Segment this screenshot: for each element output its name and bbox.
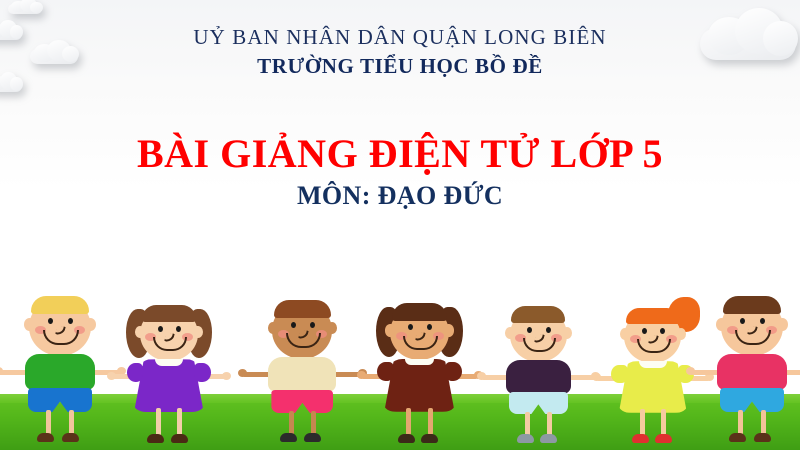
shoe-right <box>754 433 771 442</box>
leg-left <box>406 408 411 436</box>
child-4-girl-maroon <box>370 300 469 444</box>
eye-left <box>642 328 647 334</box>
header-line-school: TRƯỜNG TIỂU HỌC BỒ ĐỀ <box>0 53 800 79</box>
shoe-left <box>398 434 415 443</box>
shoe-right <box>304 433 321 442</box>
leg-left <box>525 412 530 435</box>
child-7-boy-pink <box>700 292 800 444</box>
shirt <box>268 357 336 392</box>
shirt <box>717 354 787 390</box>
sleeve-right <box>194 363 211 382</box>
page-subtitle: MÔN: ĐẠO ĐỨC <box>0 181 800 211</box>
shorts <box>271 390 333 413</box>
shoe-right <box>540 434 557 443</box>
eye-left <box>158 326 163 332</box>
leg-right <box>311 411 316 435</box>
child-6-girl-yellow <box>605 304 701 444</box>
dress-collar <box>155 359 183 366</box>
hand-left <box>686 367 695 375</box>
eye-right <box>68 318 73 324</box>
shoe-right <box>171 434 188 443</box>
hair-top <box>142 305 197 322</box>
shoe-left <box>729 433 746 442</box>
child-2-girl-purple <box>120 301 218 444</box>
shorts <box>28 388 92 412</box>
hand-right <box>222 372 231 380</box>
leg-right <box>428 408 433 436</box>
sleeve-left <box>611 365 628 383</box>
eye-left <box>740 318 745 324</box>
leg-left <box>738 410 743 435</box>
shoe-left <box>632 434 649 443</box>
eye-right <box>310 322 315 328</box>
leg-left <box>289 411 294 435</box>
header-line-organization: UỶ BAN NHÂN DÂN QUẬN LONG BIÊN <box>0 24 800 50</box>
eye-right <box>760 318 765 324</box>
eye-left <box>48 318 53 324</box>
shoe-right <box>421 434 438 443</box>
hair-top <box>274 300 330 317</box>
hand-left <box>107 372 116 380</box>
shoe-right <box>655 434 672 443</box>
leg-left <box>156 408 161 435</box>
eye-left <box>291 322 296 328</box>
leg-right <box>761 410 766 435</box>
page-title: BÀI GIẢNG ĐIỆN TỬ LỚP 5 <box>0 131 800 177</box>
dress-collar <box>405 359 434 366</box>
shorts <box>509 392 569 414</box>
hair-top <box>392 303 447 320</box>
hair-top <box>31 296 89 314</box>
leg-right <box>69 410 74 435</box>
leg-right <box>177 408 182 435</box>
shorts <box>720 388 784 412</box>
child-5-boy-purple <box>490 303 587 444</box>
hair-top <box>723 296 781 314</box>
hair-top <box>626 308 679 325</box>
children-illustration <box>0 285 800 450</box>
title-text-block: UỶ BAN NHÂN DÂN QUẬN LONG BIÊN TRƯỜNG TI… <box>0 0 800 211</box>
sleeve-left <box>377 362 394 381</box>
leg-right <box>661 409 666 436</box>
shirt <box>25 354 95 390</box>
shoe-left <box>37 433 54 442</box>
eye-right <box>546 327 551 333</box>
dress <box>134 359 204 412</box>
hand-left <box>357 371 366 379</box>
leg-left <box>640 409 645 436</box>
dress <box>384 359 454 412</box>
presentation-slide: UỶ BAN NHÂN DÂN QUẬN LONG BIÊN TRƯỜNG TI… <box>0 0 800 450</box>
shoe-right <box>62 433 79 442</box>
shoe-left <box>280 433 297 442</box>
hair-top <box>511 306 565 323</box>
sleeve-left <box>127 363 144 382</box>
dress-collar <box>639 361 667 367</box>
leg-left <box>46 410 51 435</box>
child-3-boy-cream <box>252 297 353 444</box>
dress <box>619 361 687 413</box>
shoe-left <box>147 434 164 443</box>
shirt <box>506 360 571 393</box>
leg-right <box>547 412 552 435</box>
shoe-left <box>517 434 534 443</box>
child-1-boy-green <box>8 292 112 444</box>
